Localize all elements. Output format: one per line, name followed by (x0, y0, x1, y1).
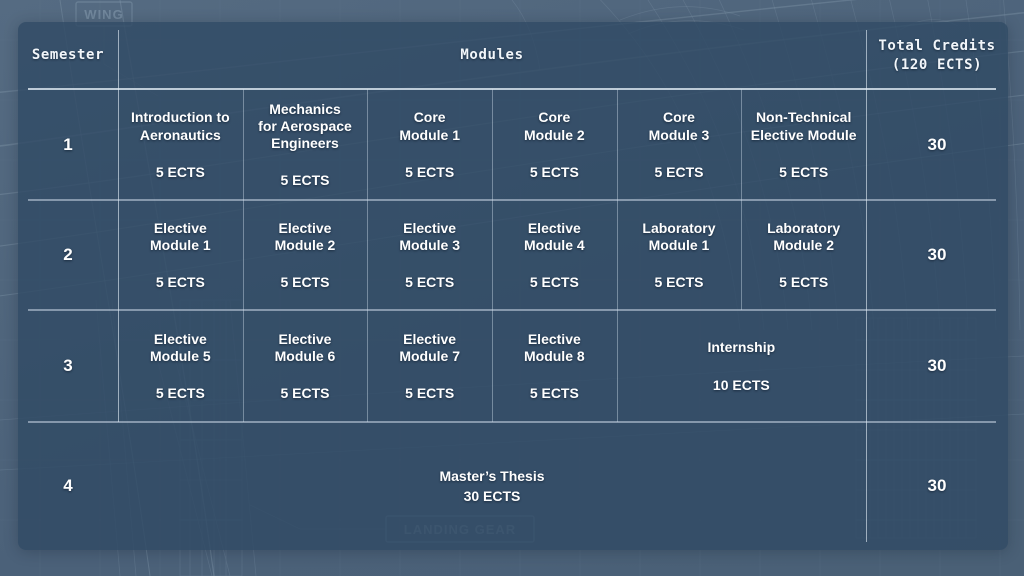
module-cell: LaboratoryModule 2 5 ECTS (741, 200, 866, 310)
semester-column-divider (118, 30, 119, 422)
row-total-credits: 30 (866, 422, 1008, 550)
module-cell-internship: Internship 10 ECTS (617, 310, 866, 422)
module-name: ElectiveModule 8 (524, 331, 585, 365)
module-ects: 5 ECTS (779, 164, 828, 180)
row-total-credits: 30 (866, 89, 1008, 200)
module-ects: 5 ECTS (156, 385, 205, 401)
module-cell: ElectiveModule 8 5 ECTS (492, 310, 617, 422)
module-cell: CoreModule 3 5 ECTS (617, 89, 742, 200)
column-divider (617, 89, 618, 422)
semester-number: 2 (18, 200, 118, 310)
credits-column-divider (866, 30, 867, 542)
module-cell: CoreModule 2 5 ECTS (492, 89, 617, 200)
header-modules-label: Modules (460, 46, 523, 65)
module-ects: 10 ECTS (713, 377, 770, 393)
module-name: LaboratoryModule 1 (642, 220, 715, 254)
module-ects: 5 ECTS (405, 385, 454, 401)
module-cell: CoreModule 1 5 ECTS (367, 89, 492, 200)
blueprint-label-wing-text: WING (84, 7, 123, 22)
module-ects: 5 ECTS (280, 385, 329, 401)
curriculum-card: Semester Modules Total Credits (120 ECTS… (18, 22, 1008, 550)
module-name: LaboratoryModule 2 (767, 220, 840, 254)
row-total-credits: 30 (866, 200, 1008, 310)
module-name: ElectiveModule 5 (150, 331, 211, 365)
module-cell: LaboratoryModule 1 5 ECTS (617, 200, 742, 310)
module-cell: ElectiveModule 1 5 ECTS (118, 200, 243, 310)
module-name: Non-TechnicalElective Module (751, 109, 857, 143)
row-separator (28, 421, 996, 423)
semester-number: 4 (18, 422, 118, 550)
column-divider (367, 89, 368, 422)
module-ects: 5 ECTS (280, 172, 329, 188)
module-ects: 5 ECTS (280, 274, 329, 290)
table-row: 4 Master’s Thesis 30 ECTS 30 (18, 422, 1008, 550)
row-separator (28, 309, 996, 311)
module-name: CoreModule 1 (399, 109, 460, 143)
module-cell: Introduction toAeronautics 5 ECTS (118, 89, 243, 200)
curriculum-table: Semester Modules Total Credits (120 ECTS… (18, 22, 1008, 550)
module-name: CoreModule 3 (649, 109, 710, 143)
header-modules: Modules (118, 22, 866, 89)
table-row: 1 Introduction toAeronautics 5 ECTS Mech… (18, 89, 1008, 200)
module-cell: ElectiveModule 3 5 ECTS (367, 200, 492, 310)
module-ects: 5 ECTS (156, 164, 205, 180)
module-ects: 5 ECTS (654, 274, 703, 290)
module-name: ElectiveModule 1 (150, 220, 211, 254)
module-cell: ElectiveModule 7 5 ECTS (367, 310, 492, 422)
header-semester-label: Semester (32, 46, 104, 65)
module-name: Mechanicsfor AerospaceEngineers (258, 101, 352, 152)
module-name: ElectiveModule 7 (399, 331, 460, 365)
module-ects: 5 ECTS (530, 385, 579, 401)
module-name: ElectiveModule 4 (524, 220, 585, 254)
semester-number: 3 (18, 310, 118, 422)
module-ects: 5 ECTS (530, 164, 579, 180)
module-ects: 30 ECTS (464, 488, 521, 504)
header-total-credits: Total Credits (120 ECTS) (866, 22, 1008, 89)
column-divider (492, 89, 493, 422)
module-name: Introduction toAeronautics (131, 109, 230, 143)
module-name: ElectiveModule 6 (275, 331, 336, 365)
row-total-credits: 30 (866, 310, 1008, 422)
header-separator (28, 88, 996, 90)
module-cell: ElectiveModule 6 5 ECTS (243, 310, 368, 422)
modules-cells: Master’s Thesis 30 ECTS (118, 422, 866, 550)
module-cell-thesis: Master’s Thesis 30 ECTS (118, 422, 866, 550)
table-header-row: Semester Modules Total Credits (120 ECTS… (18, 22, 1008, 89)
module-name: Internship (707, 339, 775, 356)
module-ects: 5 ECTS (156, 274, 205, 290)
module-cell: ElectiveModule 2 5 ECTS (243, 200, 368, 310)
module-name: ElectiveModule 2 (275, 220, 336, 254)
header-total-credits-line1: Total Credits (878, 37, 995, 56)
module-ects: 5 ECTS (779, 274, 828, 290)
row-separator (28, 199, 996, 201)
module-cell: Non-TechnicalElective Module 5 ECTS (741, 89, 866, 200)
column-divider (741, 89, 742, 310)
module-ects: 5 ECTS (530, 274, 579, 290)
module-ects: 5 ECTS (654, 164, 703, 180)
module-name: Master’s Thesis (439, 468, 544, 485)
module-cell: Mechanicsfor AerospaceEngineers 5 ECTS (243, 89, 368, 200)
column-divider (243, 89, 244, 422)
header-semester: Semester (18, 22, 118, 89)
header-total-credits-line2: (120 ECTS) (878, 56, 995, 75)
table-row: 3 ElectiveModule 5 5 ECTS ElectiveModule… (18, 310, 1008, 422)
table-row: 2 ElectiveModule 1 5 ECTS ElectiveModule… (18, 200, 1008, 310)
module-cell: ElectiveModule 4 5 ECTS (492, 200, 617, 310)
module-ects: 5 ECTS (405, 164, 454, 180)
module-name: CoreModule 2 (524, 109, 585, 143)
semester-number: 1 (18, 89, 118, 200)
module-name: ElectiveModule 3 (399, 220, 460, 254)
module-ects: 5 ECTS (405, 274, 454, 290)
module-cell: ElectiveModule 5 5 ECTS (118, 310, 243, 422)
